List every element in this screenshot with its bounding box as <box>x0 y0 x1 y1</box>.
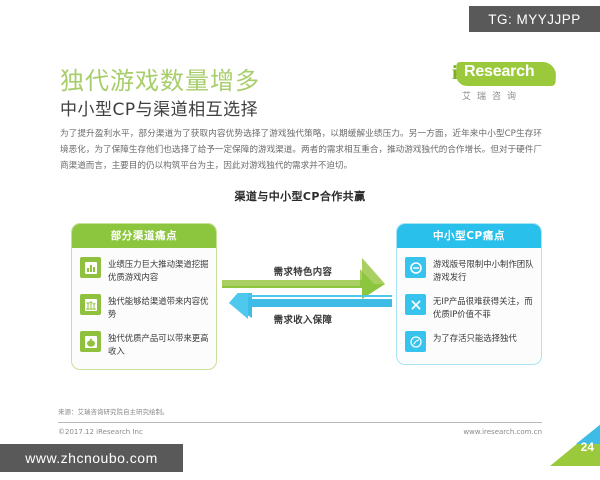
arrow-group: 需求特色内容 需求收入保障 <box>222 250 392 350</box>
footer-divider <box>58 422 542 423</box>
list-item-label: 无IP产品很难获得关注，而优质IP价值不菲 <box>433 294 534 320</box>
page-subtitle: 中小型CP与渠道相互选择 <box>60 95 258 120</box>
logo-wordmark: Research <box>464 63 534 81</box>
panel-right-header: 中小型CP痛点 <box>397 224 541 248</box>
website-url: www.iresearch.com.cn <box>463 428 542 436</box>
list-item: 无IP产品很难获得关注，而优质IP价值不菲 <box>405 294 534 320</box>
list-item: 独代优质产品可以带来更高收入 <box>80 331 209 357</box>
watermark-bottom-left: www.zhcnoubo.com <box>0 444 183 472</box>
bar-chart-icon <box>80 257 101 278</box>
watermark-top-right: TG: MYYJJPP <box>469 6 600 32</box>
list-item: 独代能够给渠道带来内容优势 <box>80 294 209 320</box>
panel-channel-painpoints: 部分渠道痛点 业绩压力巨大推动渠道挖掘优质游戏内容 独代能够给渠道带来内容优势 … <box>71 223 217 370</box>
list-item: 业绩压力巨大推动渠道挖掘优质游戏内容 <box>80 257 209 283</box>
money-bag-icon <box>80 331 101 352</box>
panel-cp-painpoints: 中小型CP痛点 游戏版号限制中小制作团队游戏发行 无IP产品很难获得关注，而优质… <box>396 223 542 365</box>
panel-left-header: 部分渠道痛点 <box>72 224 216 248</box>
chart-title: 渠道与中小型CP合作共赢 <box>0 188 600 204</box>
list-item: 游戏版号限制中小制作团队游戏发行 <box>405 257 534 283</box>
prohibition-icon <box>405 257 426 278</box>
logo-mark: i Research <box>450 60 558 89</box>
list-item-label: 游戏版号限制中小制作团队游戏发行 <box>433 257 534 283</box>
list-item-label: 业绩压力巨大推动渠道挖掘优质游戏内容 <box>108 257 209 283</box>
cross-icon <box>405 294 426 315</box>
lifebuoy-icon <box>405 331 426 352</box>
arrow-label-content: 需求特色内容 <box>218 264 388 278</box>
panel-left-body: 业绩压力巨大推动渠道挖掘优质游戏内容 独代能够给渠道带来内容优势 独代优质产品可… <box>72 248 216 369</box>
page-number: 24 <box>581 440 594 454</box>
body-paragraph: 为了提升盈利水平，部分渠道为了获取内容优势选择了游戏独代策略，以期缓解业绩压力。… <box>60 126 542 174</box>
copyright-text: ©2017.12 iResearch Inc <box>58 428 143 436</box>
panel-right-body: 游戏版号限制中小制作团队游戏发行 无IP产品很难获得关注，而优质IP价值不菲 为… <box>397 248 541 364</box>
arrow-label-revenue: 需求收入保障 <box>218 312 388 326</box>
iresearch-logo: i Research 艾瑞咨询 <box>450 60 558 104</box>
logo-letter-i: i <box>452 62 458 84</box>
slide-canvas: TG: MYYJJPP www.zhcnoubo.com i Research … <box>0 0 600 480</box>
growth-plant-icon <box>80 294 101 315</box>
logo-chinese-name: 艾瑞咨询 <box>462 89 522 102</box>
page-corner-decoration: 24 <box>548 424 600 466</box>
list-item-label: 为了存活只能选择独代 <box>433 331 517 345</box>
page-title: 独代游戏数量增多 <box>60 61 260 96</box>
list-item-label: 独代能够给渠道带来内容优势 <box>108 294 209 320</box>
list-item-label: 独代优质产品可以带来更高收入 <box>108 331 209 357</box>
list-item: 为了存活只能选择独代 <box>405 331 534 352</box>
source-note: 来源：艾瑞咨询研究院自主研究绘制。 <box>58 406 169 416</box>
